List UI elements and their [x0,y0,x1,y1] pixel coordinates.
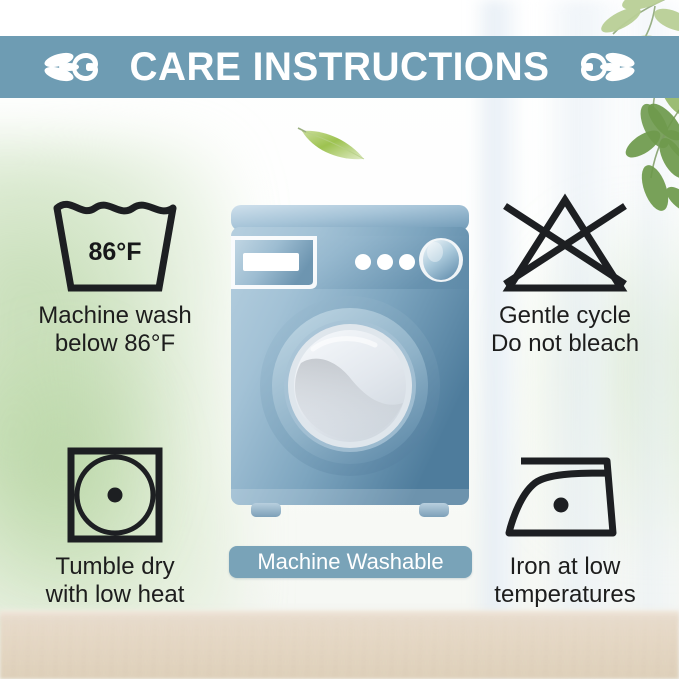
table-wood-grain [0,619,679,679]
machine-washable-badge: Machine Washable [229,546,472,578]
caption-line-2: below 86°F [8,330,222,358]
iron-low-heat-icon [458,443,672,547]
caption-line-1: Machine wash [38,302,191,329]
caption-line-1: Gentle cycle [499,302,631,329]
caption-line-2: temperatures [458,581,672,609]
washer-indicator-3 [399,254,415,270]
washer-indicator-1 [355,254,371,270]
caption-line-2: Do not bleach [458,330,672,358]
caption-line-1: Iron at low [510,553,621,580]
instruction-caption: Iron at low temperatures [458,553,672,610]
wash-tub-icon: 86°F [8,192,222,296]
caption-line-2: with low heat [8,581,222,609]
care-instructions-infographic: CARE INSTRUCTIONS 86°F Machine wash belo… [0,0,679,679]
instruction-caption: Gentle cycle Do not bleach [458,302,672,359]
instruction-gentle-cycle-no-bleach: Gentle cycle Do not bleach [458,192,672,359]
wash-temperature-value: 86°F [88,238,141,266]
instruction-iron-low: Iron at low temperatures [458,443,672,610]
do-not-bleach-triangle-icon [458,192,672,296]
header-banner: CARE INSTRUCTIONS [0,36,679,98]
caption-line-1: Tumble dry [55,553,174,580]
instruction-caption: Tumble dry with low heat [8,553,222,610]
washer-foot-left [251,503,281,517]
page-title: CARE INSTRUCTIONS [130,47,550,87]
tumble-dry-low-icon [8,443,222,547]
instruction-machine-wash: 86°F Machine wash below 86°F [8,192,222,359]
washer-indicator-2 [377,254,393,270]
instruction-caption: Machine wash below 86°F [8,302,222,359]
floating-leaf-icon [296,119,370,165]
status-badge-label: Machine Washable [257,551,443,573]
washing-machine-illustration [225,203,475,533]
washer-foot-right [419,503,449,517]
instruction-tumble-dry: Tumble dry with low heat [8,443,222,610]
fleur-de-lis-icon-left [41,46,103,88]
fleur-de-lis-icon-right [576,46,638,88]
washer-drawer-slot [243,253,299,271]
